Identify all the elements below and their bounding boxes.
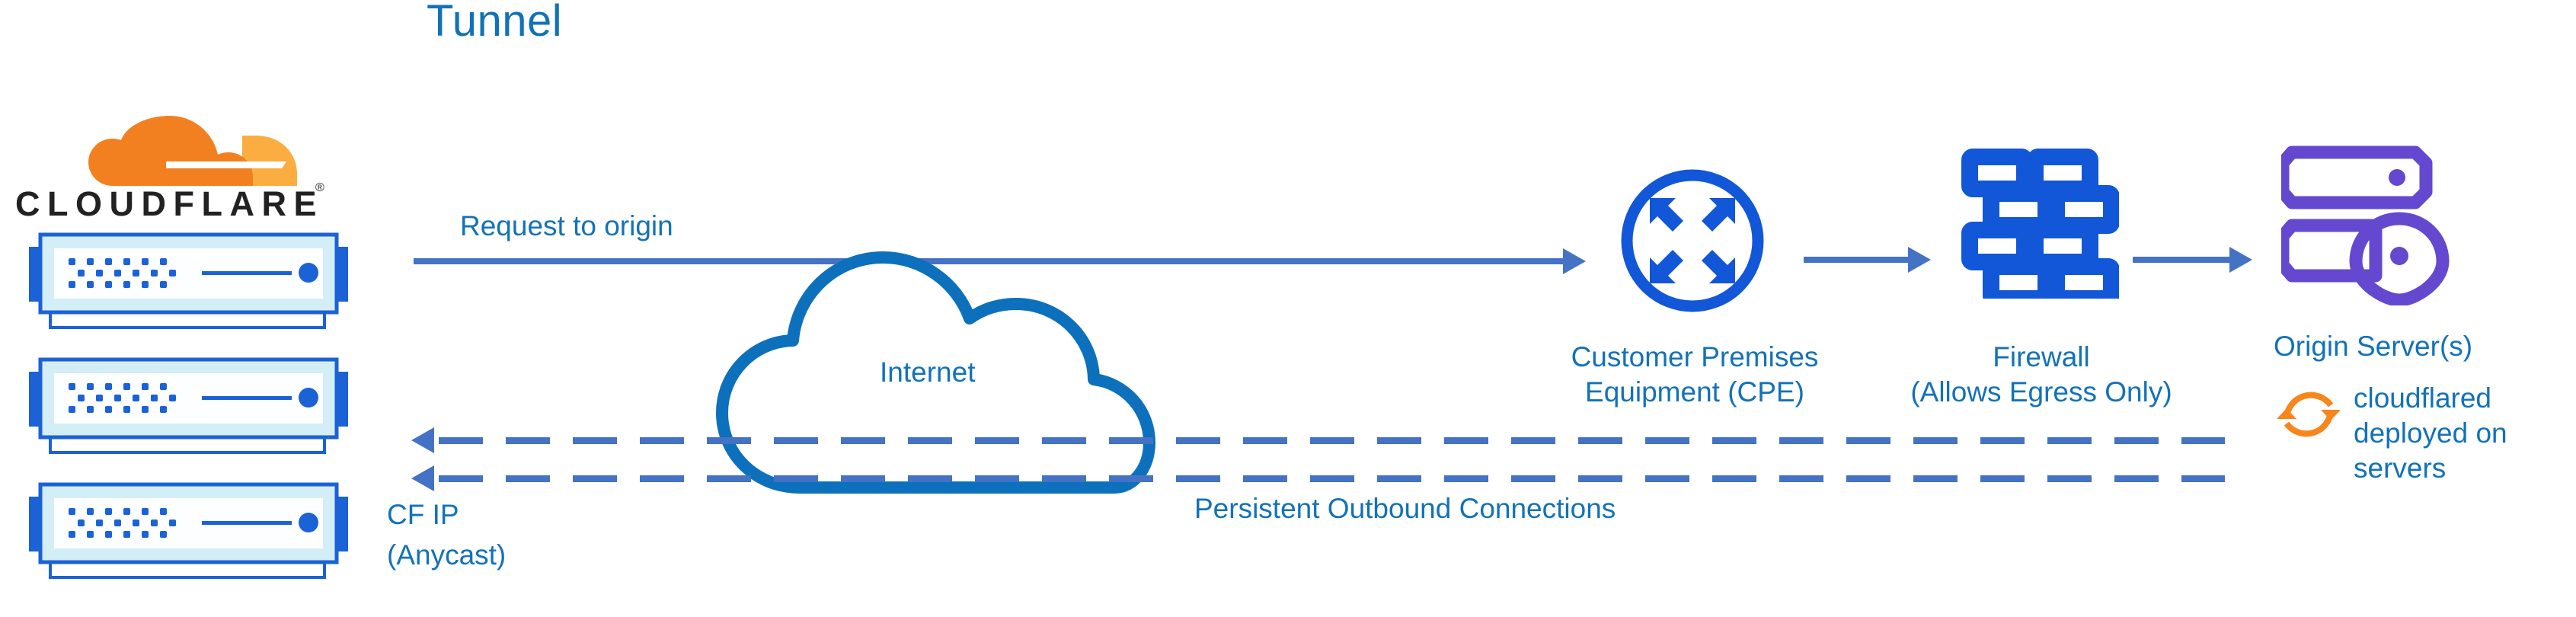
- origin-server-label: Origin Server(s): [2274, 329, 2472, 364]
- firewall-to-origin-arrow-line: [2133, 257, 2232, 263]
- cloudflared-label-line-1: cloudflared: [2354, 381, 2491, 416]
- origin-server-pin-icon: [2281, 142, 2472, 309]
- firewall-label-line-2: (Allows Egress Only): [1881, 375, 2201, 410]
- tunnel-architecture-diagram: Tunnel CLOUDFLARE ®: [0, 0, 2576, 617]
- sync-arrows-icon: [2274, 379, 2344, 453]
- diagram-title: Tunnel: [427, 4, 562, 39]
- cloudflared-label-line-2: deployed on: [2354, 416, 2507, 451]
- router-four-arrows-icon: [1616, 165, 1769, 321]
- cloudflare-edge-server-3: [15, 480, 362, 587]
- cpe-label-line-1: Customer Premises: [1546, 340, 1843, 375]
- request-to-origin-label: Request to origin: [460, 209, 673, 244]
- registered-trademark-mark: ®: [315, 181, 324, 195]
- persistent-outbound-connections-label: Persistent Outbound Connections: [1194, 491, 1616, 526]
- cf-ip-label-line-1: CF IP: [387, 497, 459, 532]
- firewall-to-origin-arrow-head: [2229, 247, 2252, 273]
- internet-label: Internet: [880, 355, 975, 390]
- cf-ip-label-line-2: (Anycast): [387, 538, 506, 573]
- persistent-connection-arrow-head-upper: [411, 427, 434, 453]
- cloudflare-edge-server-2: [15, 355, 362, 462]
- cpe-label-line-2: Equipment (CPE): [1546, 375, 1843, 410]
- cloudflare-edge-server-1: [15, 230, 362, 337]
- request-to-origin-arrow-head: [1563, 248, 1586, 274]
- cpe-to-firewall-arrow-head: [1908, 247, 1931, 273]
- persistent-connection-arrow-head-lower: [411, 465, 434, 491]
- persistent-connection-line-upper: [439, 437, 2225, 444]
- brick-wall-icon: [1959, 146, 2119, 302]
- cloudflare-wordmark: CLOUDFLARE: [15, 184, 324, 224]
- persistent-connection-line-lower: [439, 475, 2225, 482]
- firewall-label-line-1: Firewall: [1897, 340, 2186, 375]
- cloudflared-label-line-3: servers: [2354, 451, 2446, 486]
- cpe-to-firewall-arrow-line: [1804, 257, 1910, 263]
